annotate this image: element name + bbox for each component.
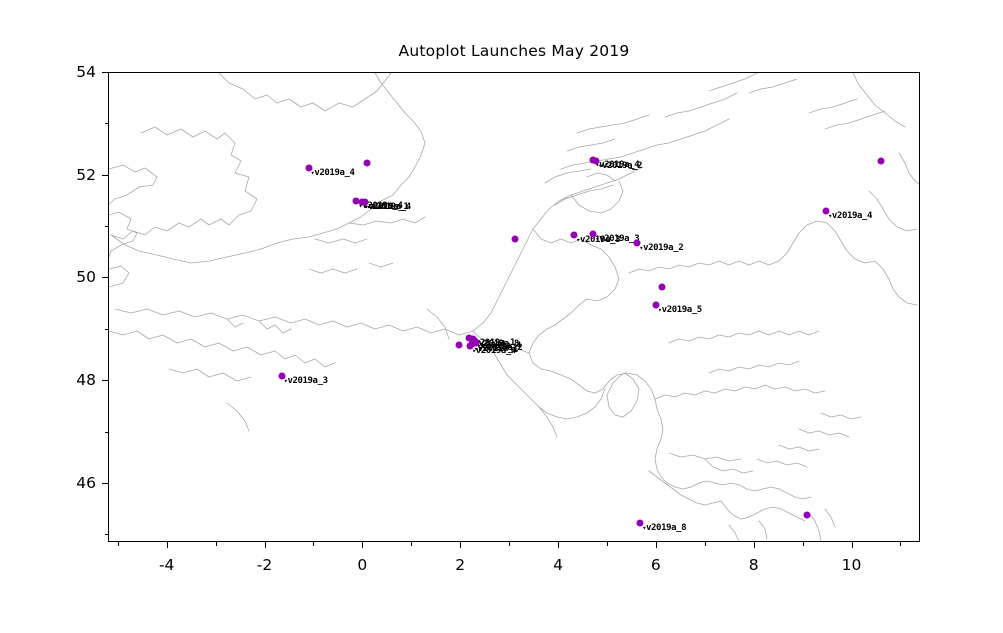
- map-axes: [108, 72, 920, 542]
- x-tick-label: 10: [842, 556, 862, 574]
- y-tick-major: [102, 380, 108, 381]
- data-point-label: v2019a_3: [284, 377, 328, 386]
- data-point-label: v2019a_4: [472, 347, 516, 356]
- data-point: [804, 511, 811, 518]
- data-point-label: v2019a_2: [598, 162, 642, 171]
- y-tick-major: [102, 483, 108, 484]
- map-geometry: [109, 73, 920, 542]
- x-tick-label: 2: [455, 556, 465, 574]
- data-point-label: v2019a_4: [367, 203, 411, 212]
- data-point: [658, 283, 665, 290]
- y-tick-major: [102, 175, 108, 176]
- y-tick-minor: [105, 534, 109, 535]
- x-tick-label: 0: [357, 556, 367, 574]
- y-tick-minor: [105, 226, 109, 227]
- data-point-label: v2019a_8: [642, 524, 686, 533]
- data-point-label: v2019a_4: [828, 212, 872, 221]
- data-point-label: v2019a_2: [639, 244, 683, 253]
- x-tick-minor: [607, 542, 608, 546]
- y-tick-minor: [105, 123, 109, 124]
- x-tick-major: [265, 542, 266, 548]
- y-tick-label: 50: [76, 268, 96, 286]
- y-tick-label: 46: [76, 474, 96, 492]
- x-tick-minor: [118, 542, 119, 546]
- x-tick-minor: [216, 542, 217, 546]
- data-point: [364, 160, 371, 167]
- x-tick-major: [460, 542, 461, 548]
- y-tick-label: 54: [76, 63, 96, 81]
- y-tick-major: [102, 72, 108, 73]
- x-tick-label: 8: [749, 556, 759, 574]
- y-tick-minor: [105, 329, 109, 330]
- x-tick-minor: [705, 542, 706, 546]
- x-tick-major: [754, 542, 755, 548]
- y-tick-major: [102, 277, 108, 278]
- x-tick-major: [656, 542, 657, 548]
- data-point-label: v2019a_5: [658, 306, 702, 315]
- x-tick-label: 4: [553, 556, 563, 574]
- y-tick-minor: [105, 432, 109, 433]
- x-tick-label: -4: [159, 556, 174, 574]
- x-tick-major: [362, 542, 363, 548]
- data-point: [455, 342, 462, 349]
- x-tick-major: [167, 542, 168, 548]
- y-tick-label: 52: [76, 166, 96, 184]
- data-point: [511, 235, 518, 242]
- x-tick-label: 6: [651, 556, 661, 574]
- x-tick-minor: [803, 542, 804, 546]
- y-tick-label: 48: [76, 371, 96, 389]
- x-tick-minor: [900, 542, 901, 546]
- x-tick-label: -2: [257, 556, 272, 574]
- x-tick-major: [558, 542, 559, 548]
- chart-title: Autoplot Launches May 2019: [108, 42, 920, 60]
- figure-canvas: Autoplot Launches May 2019: [0, 0, 1003, 633]
- data-point-label: v2019a_4: [311, 169, 355, 178]
- x-tick-minor: [509, 542, 510, 546]
- data-point: [877, 157, 884, 164]
- x-tick-major: [852, 542, 853, 548]
- x-tick-minor: [411, 542, 412, 546]
- x-tick-minor: [313, 542, 314, 546]
- data-point-label: v2019a_3: [595, 235, 639, 244]
